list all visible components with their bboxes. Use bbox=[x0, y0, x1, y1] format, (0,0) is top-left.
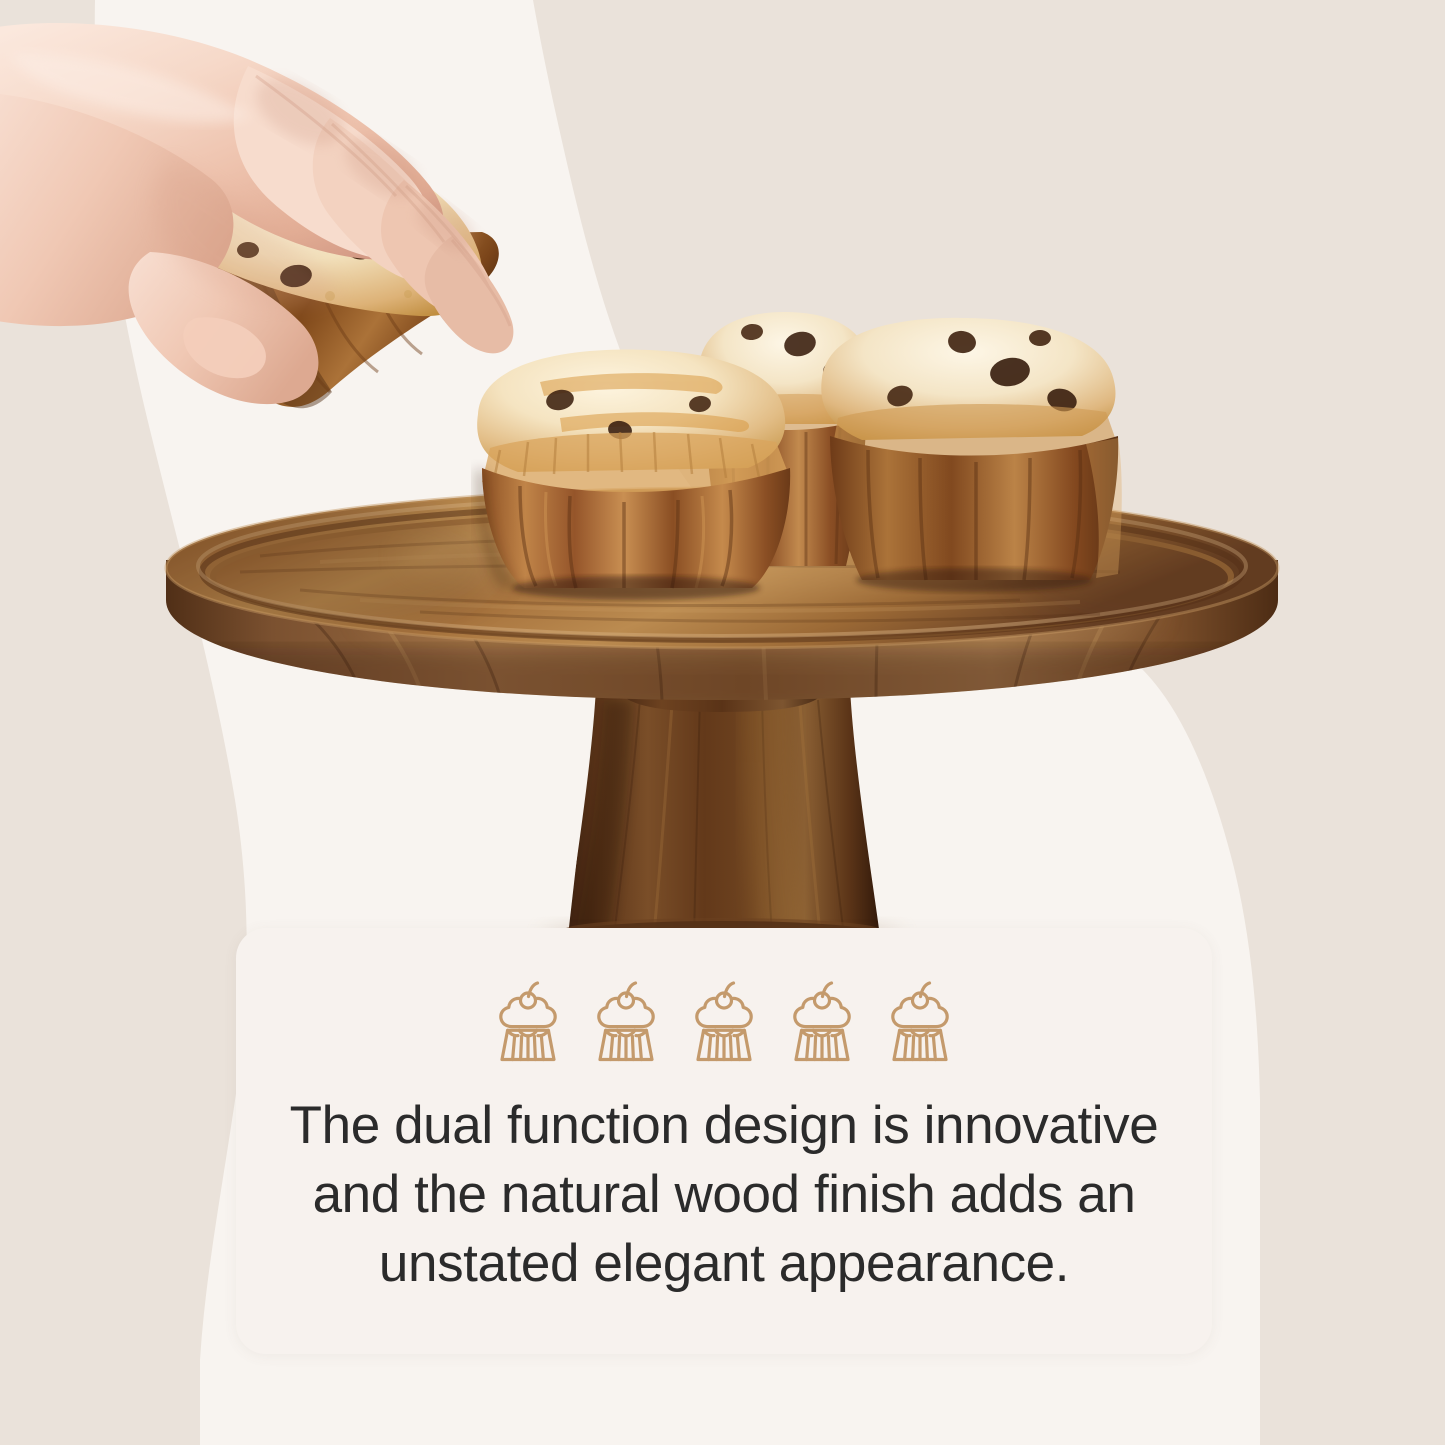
cupcake-icon bbox=[592, 978, 660, 1066]
review-quote-line-3: unstated elegant appearance. bbox=[259, 1230, 1189, 1299]
cupcake-icon bbox=[494, 978, 562, 1066]
cupcake-icon bbox=[788, 978, 856, 1066]
review-quote-line-2: and the natural wood finish adds an bbox=[259, 1161, 1189, 1230]
cupcake-icon bbox=[886, 978, 954, 1066]
review-quote: The dual function design is innovative a… bbox=[259, 1092, 1189, 1299]
muffin-right bbox=[821, 318, 1122, 592]
muffin-front bbox=[476, 350, 790, 600]
cupcake-icon bbox=[690, 978, 758, 1066]
review-quote-line-1: The dual function design is innovative bbox=[259, 1092, 1189, 1161]
rating-cupcakes bbox=[494, 970, 954, 1066]
hand-holding-muffin bbox=[0, 23, 513, 408]
product-lifestyle-image: The dual function design is innovative a… bbox=[0, 0, 1445, 1445]
review-card: The dual function design is innovative a… bbox=[236, 928, 1212, 1354]
